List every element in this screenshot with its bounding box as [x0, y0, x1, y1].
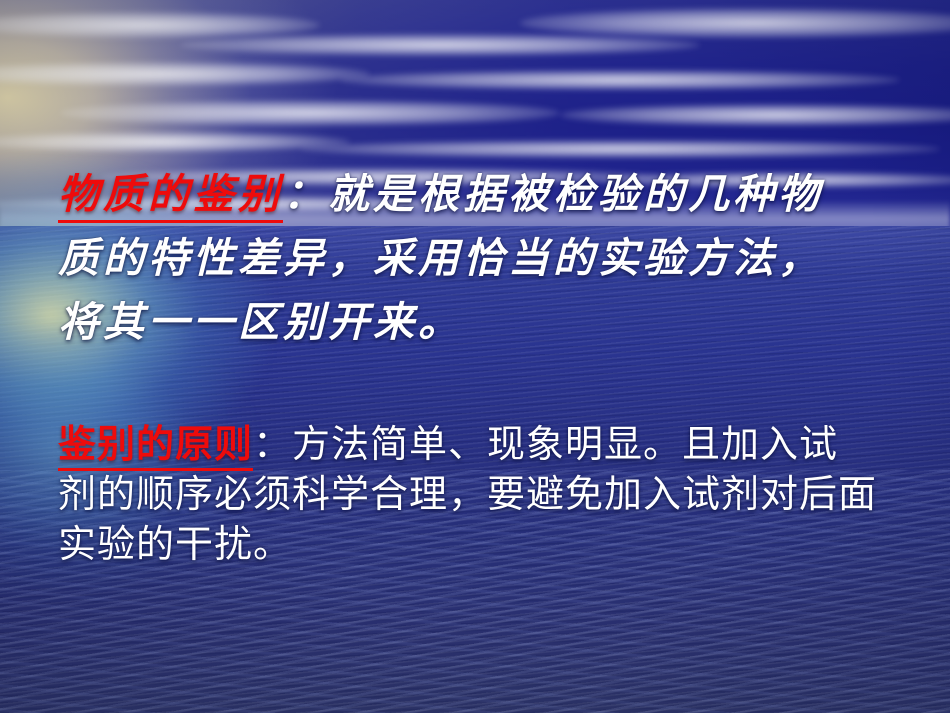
- paragraph-line: 物质的鉴别：就是根据被检验的几种物: [58, 162, 928, 226]
- keyword-colon: ：: [283, 170, 328, 218]
- paragraph-line: 鉴别的原则：方法简单、现象明显。且加入试: [58, 420, 928, 470]
- paragraph-line: 质的特性差异，采用恰当的实验方法，: [58, 226, 928, 290]
- presentation-slide: 物质的鉴别：就是根据被检验的几种物 质的特性差异，采用恰当的实验方法， 将其一一…: [0, 0, 950, 713]
- paragraph-identification-definition: 物质的鉴别：就是根据被检验的几种物 质的特性差异，采用恰当的实验方法， 将其一一…: [58, 162, 928, 354]
- paragraph-line: 剂的顺序必须科学合理，要避免加入试剂对后面: [58, 470, 928, 520]
- paragraph-line-text: 方法简单、现象明显。且加入试: [292, 424, 838, 466]
- keyword-colon: ：: [253, 424, 292, 466]
- keyword-material-identification: 物质的鉴别: [58, 170, 283, 223]
- paragraph-line-text: 就是根据被检验的几种物: [328, 170, 823, 218]
- slide-text-content: 物质的鉴别：就是根据被检验的几种物 质的特性差异，采用恰当的实验方法， 将其一一…: [0, 0, 950, 713]
- paragraph-line: 将其一一区别开来。: [58, 290, 928, 354]
- keyword-identification-principle: 鉴别的原则: [58, 424, 253, 471]
- paragraph-identification-principle: 鉴别的原则：方法简单、现象明显。且加入试 剂的顺序必须科学合理，要避免加入试剂对…: [58, 420, 928, 570]
- paragraph-line: 实验的干扰。: [58, 520, 928, 570]
